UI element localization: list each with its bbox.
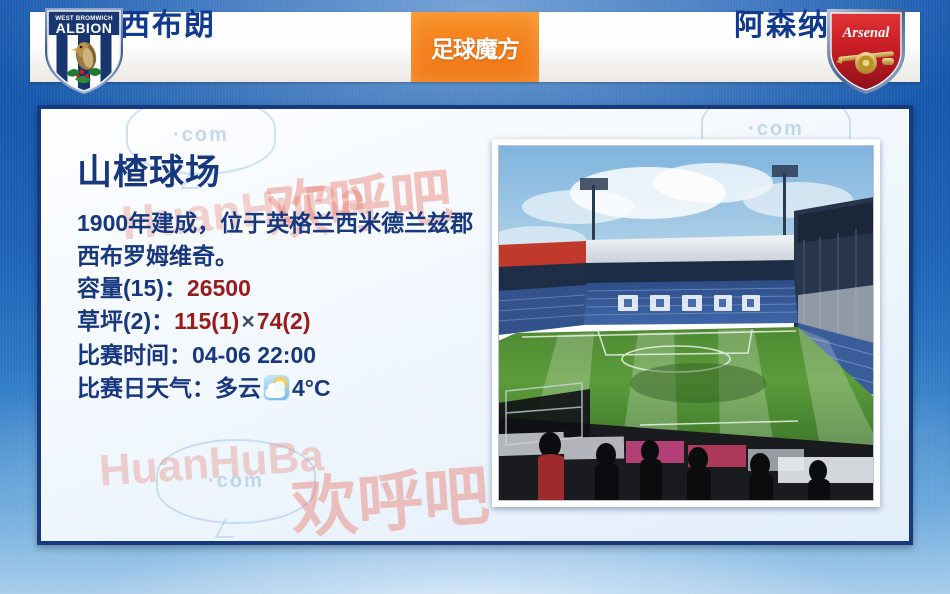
site-logo-text: 足球魔方 <box>431 30 519 64</box>
pitch-separator: × <box>239 308 256 334</box>
site-logo[interactable]: 足球魔方 <box>411 12 539 82</box>
weather-row: 比赛日天气：多云 4°C <box>77 372 497 405</box>
stadium-info-card: ·com ·com ·com ·com HuanHuBa HuanHuBa Hu… <box>37 105 913 545</box>
weather-label: 比赛日天气： <box>77 375 215 401</box>
capacity-label: 容量(15)： <box>77 275 187 301</box>
pitch-label: 草坪(2)： <box>77 308 174 334</box>
arsenal-crest: Arsenal <box>824 6 908 94</box>
svg-text:Arsenal: Arsenal <box>842 25 890 41</box>
cloud-glyph <box>265 388 285 398</box>
partly-cloudy-icon <box>263 374 290 401</box>
match-time-value: 04-06 22:00 <box>192 342 316 368</box>
home-team-name: 西布朗 <box>120 0 216 44</box>
stadium-info-block: 山楂球场 1900年建成，位于英格兰西米德兰兹郡西布罗姆维奇。 容量(15)：2… <box>77 144 497 405</box>
weather-temperature: 4°C <box>292 375 331 401</box>
pitch-length-value: 115(1) <box>174 308 239 334</box>
pitch-row: 草坪(2)：115(1)×74(2) <box>77 305 497 338</box>
stadium-photo-frame <box>492 139 880 507</box>
weather-condition: 多云 <box>215 375 261 401</box>
stadium-title: 山楂球场 <box>77 144 497 195</box>
capacity-row: 容量(15)：26500 <box>77 272 497 305</box>
svg-text:ALBION: ALBION <box>56 20 113 36</box>
away-team-name: 阿森纳 <box>734 0 830 44</box>
west-bromwich-albion-crest: WEST BROMWICH ALBION <box>42 6 126 94</box>
capacity-value: 26500 <box>187 275 251 301</box>
stadium-description: 1900年建成，位于英格兰西米德兰兹郡西布罗姆维奇。 <box>77 207 492 272</box>
pitch-width-value: 74(2) <box>257 308 311 334</box>
watermark-brand-cn: 欢呼吧 <box>288 442 492 545</box>
match-time-label: 比赛时间： <box>77 342 192 368</box>
stadium-photo <box>498 145 874 501</box>
match-time-row: 比赛时间：04-06 22:00 <box>77 339 497 372</box>
